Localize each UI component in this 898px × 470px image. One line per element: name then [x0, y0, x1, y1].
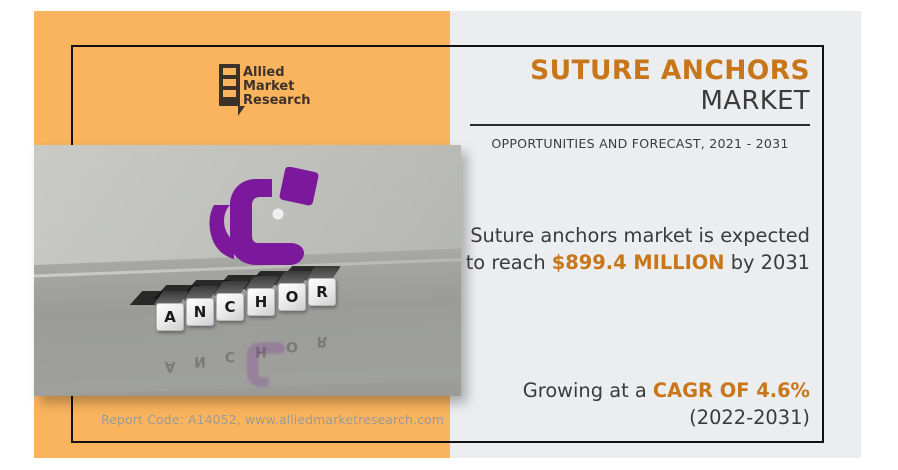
market-value-highlight: $899.4 MILLION [552, 251, 725, 274]
hero-image: A N C H O R A N C H O R [34, 145, 461, 396]
logo-bars [223, 68, 236, 101]
letter-cube: N [186, 298, 214, 326]
allied-market-research-logo[interactable]: Allied Market Research [219, 64, 303, 122]
logo-line-allied: Allied [243, 66, 311, 80]
cube-reflection: O [279, 335, 305, 357]
cube-reflection: A [157, 355, 183, 377]
cube-reflection: R [309, 330, 335, 352]
letter-cube: A [156, 303, 184, 331]
logo-line-research: Research [243, 94, 311, 108]
cagr-prefix: Growing at a [523, 379, 653, 402]
letter-cube: O [278, 283, 306, 311]
report-code-text: Report Code: A14052, www.alliedmarketres… [101, 412, 444, 427]
cube-reflection: C [217, 345, 243, 367]
letter-cube: C [216, 293, 244, 321]
infographic-poster: Allied Market Research [0, 0, 898, 470]
letter-cube: R [308, 278, 336, 306]
logo-bar-1 [223, 68, 236, 75]
logo-speech-bubble-icon [219, 64, 240, 106]
page-subtitle: MARKET [470, 86, 810, 117]
cube-reflection: H [248, 340, 274, 362]
anchor-letter-cubes: A N C H O R A N C H O R [152, 273, 342, 333]
market-value-suffix: by 2031 [725, 251, 810, 274]
logo-line-market: Market [243, 80, 311, 94]
title-divider [470, 124, 810, 126]
letter-cube: H [247, 288, 275, 316]
logo-bar-3 [223, 90, 236, 97]
cube-reflection: N [187, 350, 213, 372]
cagr-highlight: CAGR OF 4.6% [653, 379, 810, 402]
forecast-subtitle: OPPORTUNITIES AND FORECAST, 2021 - 2031 [470, 136, 810, 151]
market-value-statement: Suture anchors market is expected to rea… [465, 222, 810, 276]
title-block: SUTURE ANCHORS MARKET OPPORTUNITIES AND … [470, 56, 810, 151]
logo-bar-2 [223, 79, 236, 86]
page-title: SUTURE ANCHORS [470, 56, 810, 86]
logo-mark: Allied Market Research [219, 64, 303, 120]
cagr-statement: Growing at a CAGR OF 4.6% (2022-2031) [465, 377, 810, 431]
logo-wordmark: Allied Market Research [243, 66, 311, 108]
cagr-period: (2022-2031) [689, 406, 810, 429]
